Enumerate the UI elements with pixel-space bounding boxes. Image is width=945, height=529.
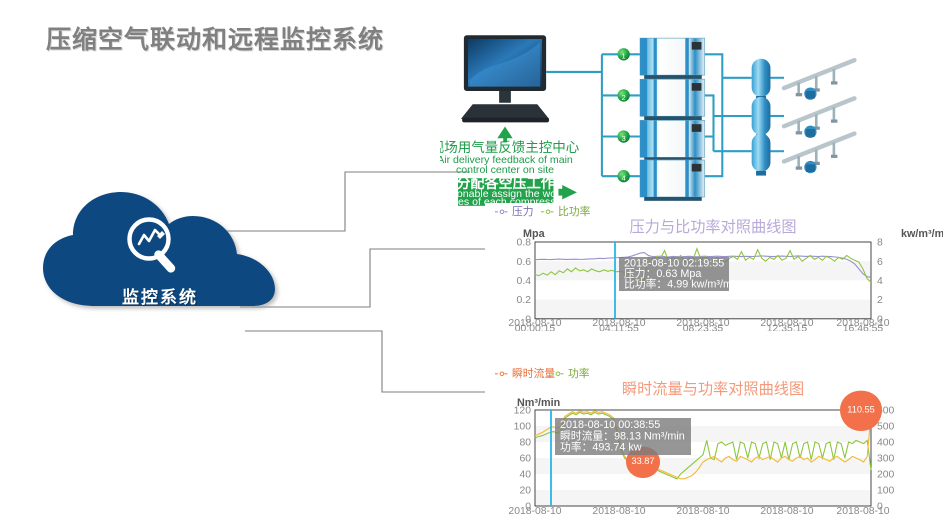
chart1-tooltip: 2018-08-10 02:19:55 压力：0.63 Mpa 比功率：4.99… (619, 257, 740, 291)
magnifier-chart-icon (120, 215, 192, 277)
monitor-caption-en-2: control center on site (456, 164, 554, 176)
compressor-branch-3: 3 (602, 120, 714, 161)
svg-text:2018-08-10: 2018-08-10 (508, 506, 561, 517)
svg-text:100: 100 (877, 486, 895, 497)
svg-text:2018-08-10: 2018-08-10 (836, 506, 889, 517)
svg-text:04:11:55: 04:11:55 (599, 323, 639, 331)
svg-text:0.2: 0.2 (517, 295, 532, 306)
svg-text:0.4: 0.4 (517, 276, 532, 287)
svg-text:100: 100 (514, 422, 532, 433)
svg-text:4: 4 (877, 276, 883, 287)
svg-text:6: 6 (877, 257, 883, 268)
chart2-legend-label-1: 功率 (568, 366, 590, 380)
air-tank-group-2 (752, 97, 855, 139)
chart1-legend-label-1: 比功率 (558, 204, 591, 218)
svg-text:60: 60 (519, 454, 531, 465)
air-tank-group-1 (752, 59, 855, 101)
up-arrow-icon (497, 127, 512, 139)
chart-pressure-vs-specific-power[interactable]: 压力 比功率 压力与比功率对照曲线图 Mpa kw/m³/min 0.8 0.6… (485, 203, 943, 331)
svg-text:300: 300 (877, 454, 895, 465)
air-tank-group-3 (752, 134, 855, 176)
chart2-tooltip: 2018-08-10 00:38:55 瞬时流量：98.13 Nm³/min 功… (555, 418, 691, 455)
svg-text:2: 2 (622, 93, 626, 102)
svg-text:40: 40 (519, 470, 531, 481)
chart1-legend-label-0: 压力 (512, 205, 534, 218)
topology-diagram: 现场用气量反馈主控中心 Air delivery feedback of mai… (440, 22, 940, 207)
svg-text:80: 80 (519, 438, 531, 449)
svg-text:0.6: 0.6 (517, 257, 532, 268)
svg-text:200: 200 (877, 470, 895, 481)
control-monitor-icon (461, 35, 549, 122)
monitor-caption-cn: 现场用气量反馈主控中心 (440, 140, 580, 155)
svg-text:3: 3 (622, 134, 626, 143)
svg-text:1: 1 (622, 52, 626, 61)
connector-to-chart2 (245, 331, 490, 392)
chart-flow-vs-power[interactable]: 瞬时流量 功率 瞬时流量与功率对照曲线图 Nm³/min 120 100 80 … (485, 365, 943, 525)
svg-text:0.8: 0.8 (517, 238, 532, 249)
chart1-title: 压力与比功率对照曲线图 (629, 219, 796, 236)
chart2-marker-0-label: 33.87 (632, 456, 655, 466)
svg-text:08:23:35: 08:23:35 (683, 323, 724, 331)
page-title: 压缩空气联动和远程监控系统 (46, 20, 384, 56)
chart1-tooltip-row-1: 比功率：4.99 kw/m³/min (624, 276, 740, 290)
chart2-tooltip-row-1: 功率：493.74 kw (560, 440, 642, 454)
cloud-label: 监控系统 (35, 283, 285, 308)
svg-text:12:35:15: 12:35:15 (767, 323, 808, 331)
svg-text:8: 8 (877, 238, 883, 249)
chart1-y2label: kw/m³/min (901, 228, 943, 240)
svg-text:00:00:15: 00:00:15 (515, 323, 556, 331)
svg-text:2018-08-10: 2018-08-10 (592, 506, 645, 517)
svg-text:2018-08-10: 2018-08-10 (676, 506, 729, 517)
compressor-branch-1: 1 (602, 38, 722, 79)
svg-text:400: 400 (877, 438, 895, 449)
svg-text:16:46:55: 16:46:55 (843, 323, 884, 331)
svg-text:120: 120 (514, 406, 532, 417)
svg-text:20: 20 (519, 486, 531, 497)
chart2-marker-1-label: 110.55 (847, 405, 874, 415)
chart2-legend-label-0: 瞬时流量 (512, 366, 555, 380)
chart2-title: 瞬时流量与功率对照曲线图 (622, 381, 804, 398)
chart2-marker-1[interactable]: 110.55 (840, 391, 882, 431)
svg-text:2: 2 (877, 295, 883, 306)
svg-text:500: 500 (877, 422, 895, 433)
chart2-yaxis-right: 600 500 400 300 200 100 0 (877, 406, 895, 513)
svg-text:4: 4 (622, 174, 627, 183)
chart2-tooltip-row-0: 瞬时流量：98.13 Nm³/min (560, 428, 685, 442)
svg-text:2018-08-10: 2018-08-10 (760, 506, 813, 517)
